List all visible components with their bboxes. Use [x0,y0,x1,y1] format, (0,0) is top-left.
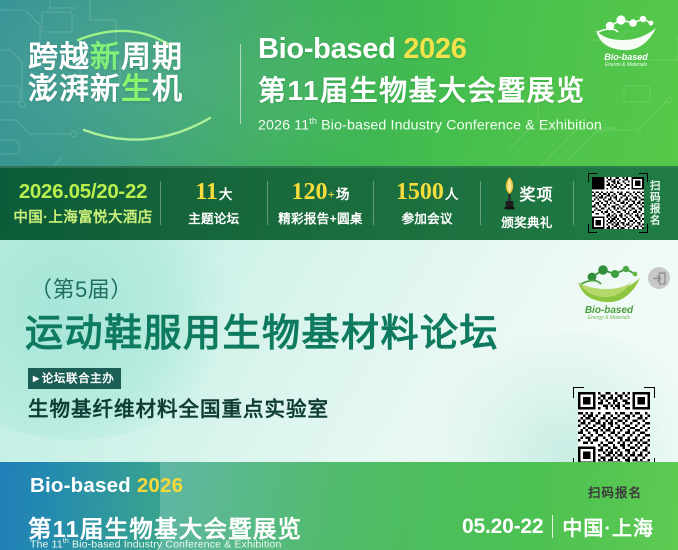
slogan-seg: 机 [152,73,183,106]
triangle-icon: ▶ [33,374,40,383]
title-en-sup: th [309,116,317,126]
stat-number: 11大 [163,180,265,204]
stats-qr-block[interactable]: 扫码报名 [574,177,678,229]
qr-bracket-tl [573,387,584,398]
slogan-seg: 跨越 [28,41,90,74]
stat-unit: 人 [445,187,459,202]
logo-tagline: Energy & Materials [588,315,631,320]
stat-plus: + [328,187,335,202]
enter-app-button[interactable] [648,267,670,289]
forum-title: 运动鞋服用生物基材料论坛 [25,302,499,357]
slogan-block: 跨越新周期 澎湃新生机 [28,42,233,107]
award-subtitle: 颁奖典礼 [501,212,553,231]
qr-code-icon[interactable] [592,177,644,229]
slogan-seg: 周期 [121,41,183,74]
slogan-seg-accent: 新 [90,41,121,74]
stats-bar: 2026.05/20-22 中国·上海富悦大酒店 11大 主题论坛 120+场 … [0,166,678,240]
host-organization-name: 生物基纤维材料全国重点实验室 [28,392,329,422]
hero-title-cn: 第11届生物基大会暨展览 [258,69,658,109]
forum-panel: （第5届） 运动鞋服用生物基材料论坛 ▶论坛联合主办 生物基纤维材料全国重点实验… [0,240,678,462]
qr-bracket-tr [639,173,648,182]
stat-unit: 场 [336,187,350,202]
event-venue: 中国·上海富悦大酒店 [6,206,160,227]
award-title: 奖项 [520,181,554,205]
bio-based-logo-icon: Bio-based Energy & Materials [588,10,664,66]
title-en-post: Bio-based Industry Conference & Exhibiti… [317,118,602,134]
stat-item-attendees: 1500人 参加会议 [374,180,480,227]
footer-title-en: The 11th Bio-based Industry Conference &… [30,538,281,550]
footer-en-pre: The 11 [30,539,63,550]
footer-date-location: 05.20-22 中国·上海 [462,512,654,541]
stat-item-award: 奖项 颁奖典礼 [481,176,573,231]
slogan-seg: 澎湃新 [28,73,121,106]
bio-based-logo-icon: Bio-based Energy & Materials [570,258,648,320]
brand-text: Bio-based [30,474,131,497]
qr-bracket-tl [588,173,597,182]
qr-code-icon[interactable] [578,392,650,462]
hero-vertical-divider [240,44,241,124]
footer-date: 05.20-22 [462,515,543,539]
footer-brand-line: Bio-based 2026 [30,474,183,498]
hero-title-en: 2026 11th Bio-based Industry Conference … [258,116,658,134]
qr-caption: 扫码报名 [648,180,660,226]
stat-value: 120 [292,179,328,205]
qr-code-frame[interactable] [592,177,644,229]
stat-label: 精彩报告+圆桌 [270,208,372,227]
trophy-icon [501,176,518,210]
qr-bracket-bl [588,224,597,233]
stat-unit: 大 [219,187,233,202]
forum-edition: （第5届） [30,272,133,304]
logo-wordmark: Bio-based [604,52,648,62]
host-tag-label: 论坛联合主办 [42,373,115,385]
host-tag-badge: ▶论坛联合主办 [28,368,121,389]
conference-banner: 跨越新周期 澎湃新生机 Bio-based 2026 第11届生物基大会暨展览 … [0,0,678,550]
footer-en-post: Bio-based Industry Conference & Exhibiti… [69,539,281,550]
stat-item-sessions: 120+场 精彩报告+圆桌 [268,180,374,227]
event-date-block: 2026.05/20-22 中国·上海富悦大酒店 [0,180,160,227]
stat-item-forums: 11大 主题论坛 [161,180,267,227]
enter-arrow-icon [653,272,666,285]
title-en-pre: 2026 11 [258,118,309,134]
slogan-line-2: 澎湃新生机 [28,74,233,106]
event-date: 2026.05/20-22 [6,180,160,204]
footer-separator [552,515,553,538]
hero-banner: 跨越新周期 澎湃新生机 Bio-based 2026 第11届生物基大会暨展览 … [0,0,678,166]
qr-bracket-br [639,224,648,233]
footer-bar: Bio-based 2026 第11届生物基大会暨展览 The 11th Bio… [0,462,678,550]
stat-number: 1500人 [376,180,478,204]
logo-tagline: Energy & Materials [605,62,648,66]
stat-label: 参加会议 [376,208,478,227]
qr-code-frame[interactable] [578,392,650,462]
footer-location: 中国·上海 [562,512,654,541]
stat-number: 120+场 [270,180,372,204]
slogan-line-1: 跨越新周期 [28,42,233,74]
stat-value: 1500 [396,179,444,205]
brand-year: 2026 [403,33,466,65]
forum-qr-caption: 扫码报名 [560,482,670,501]
forum-qr-block[interactable] [578,392,654,462]
brand-text: Bio-based [258,33,396,65]
slogan-seg-accent: 生 [121,73,152,106]
stat-value: 11 [195,179,218,205]
qr-bracket-tr [644,387,655,398]
stat-label: 主题论坛 [163,208,265,227]
brand-year: 2026 [137,474,183,497]
